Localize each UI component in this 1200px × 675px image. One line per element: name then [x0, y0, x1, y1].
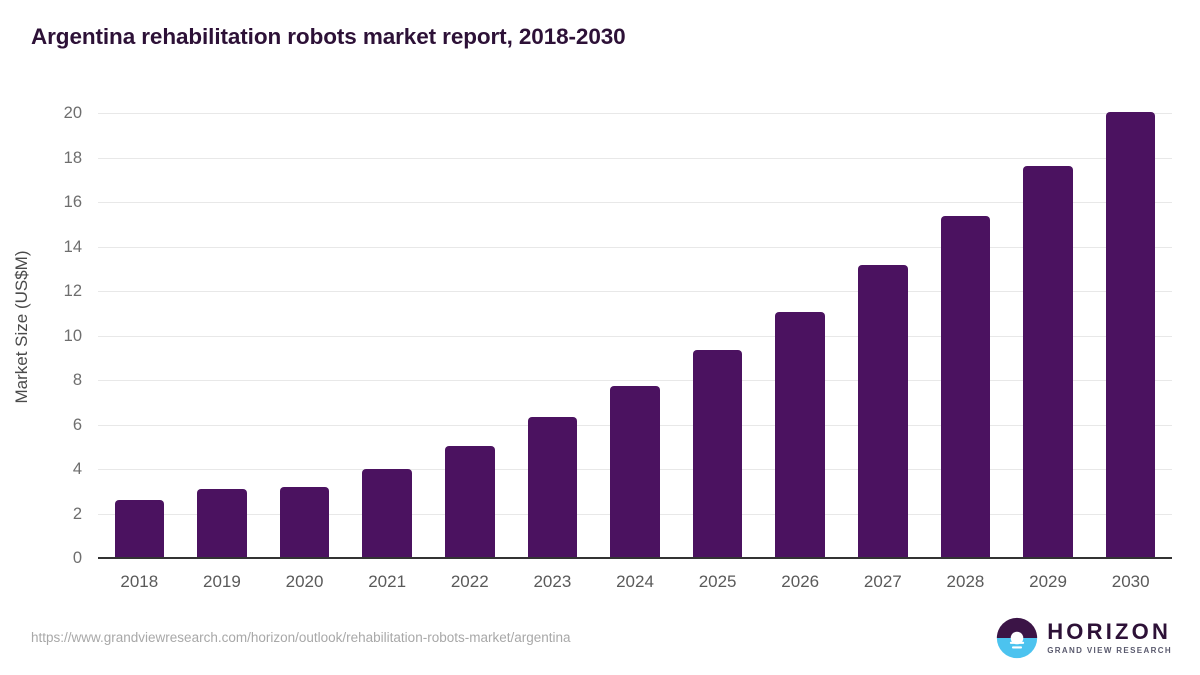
gridline — [98, 291, 1172, 292]
logo-tagline: GRAND VIEW RESEARCH — [1047, 647, 1172, 655]
y-tick-label: 6 — [42, 416, 82, 433]
bar[interactable] — [1106, 112, 1156, 558]
y-tick-label: 0 — [42, 550, 82, 567]
bar[interactable] — [115, 500, 165, 558]
chart-page: Argentina rehabilitation robots market r… — [0, 0, 1200, 675]
y-tick-label: 20 — [42, 105, 82, 122]
y-tick-label: 14 — [42, 238, 82, 255]
gridline — [98, 113, 1172, 114]
y-tick-label: 8 — [42, 372, 82, 389]
y-tick-label: 18 — [42, 149, 82, 166]
logo-wordmark: HORIZON — [1047, 621, 1172, 643]
page-title: Argentina rehabilitation robots market r… — [31, 24, 626, 50]
gridline — [98, 202, 1172, 203]
gridline — [98, 380, 1172, 381]
bar[interactable] — [280, 487, 330, 558]
x-tick-label: 2027 — [864, 572, 902, 592]
y-tick-label: 2 — [42, 505, 82, 522]
source-url[interactable]: https://www.grandviewresearch.com/horizo… — [31, 630, 571, 645]
x-tick-label: 2023 — [533, 572, 571, 592]
bar[interactable] — [1023, 166, 1073, 558]
logo-text: HORIZON GRAND VIEW RESEARCH — [1047, 621, 1172, 655]
x-axis-line — [98, 557, 1172, 559]
x-tick-label: 2026 — [781, 572, 819, 592]
x-tick-label: 2019 — [203, 572, 241, 592]
x-tick-label: 2020 — [286, 572, 324, 592]
x-tick-label: 2030 — [1112, 572, 1150, 592]
x-tick-label: 2025 — [699, 572, 737, 592]
y-tick-label: 16 — [42, 194, 82, 211]
y-tick-label: 12 — [42, 283, 82, 300]
gridline — [98, 158, 1172, 159]
brand-logo[interactable]: HORIZON GRAND VIEW RESEARCH — [996, 616, 1172, 660]
x-tick-label: 2029 — [1029, 572, 1067, 592]
y-axis-ticks: 02468101214161820 — [30, 0, 82, 675]
plot-area — [98, 113, 1172, 558]
y-tick-label: 10 — [42, 327, 82, 344]
bar[interactable] — [528, 417, 578, 558]
bar[interactable] — [858, 265, 908, 558]
bar[interactable] — [610, 386, 660, 558]
bar[interactable] — [775, 312, 825, 558]
bar[interactable] — [197, 489, 247, 558]
x-tick-label: 2028 — [947, 572, 985, 592]
horizon-logo-icon — [996, 617, 1038, 659]
gridline — [98, 247, 1172, 248]
y-tick-label: 4 — [42, 461, 82, 478]
x-tick-label: 2022 — [451, 572, 489, 592]
x-tick-label: 2024 — [616, 572, 654, 592]
bar[interactable] — [941, 216, 991, 558]
y-axis-title: Market Size (US$M) — [12, 127, 32, 527]
bar[interactable] — [362, 469, 412, 558]
bar[interactable] — [445, 446, 495, 558]
bar[interactable] — [693, 350, 743, 558]
gridline — [98, 336, 1172, 337]
x-tick-label: 2021 — [368, 572, 406, 592]
x-tick-label: 2018 — [120, 572, 158, 592]
